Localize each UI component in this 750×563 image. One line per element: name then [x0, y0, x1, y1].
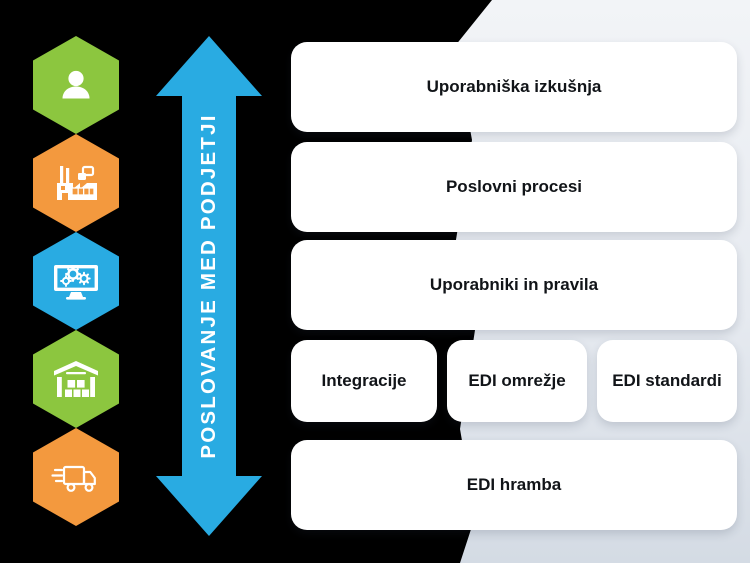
card-label: Uporabniška izkušnja	[417, 76, 612, 98]
card-label: EDI standardi	[602, 370, 732, 392]
card-label: Integracije	[311, 370, 416, 392]
card-uporabniki-in-pravila[interactable]: Uporabniki in pravila	[291, 240, 737, 330]
layer-row-integrations: Integracije EDI omrežje EDI standardi	[291, 340, 737, 422]
card-integracije[interactable]: Integracije	[291, 340, 437, 422]
diagram-canvas: POSLOVANJE MED PODJETJI Uporabniška izku…	[0, 0, 750, 563]
hexagon-icon-user[interactable]	[33, 36, 119, 134]
icon-column	[33, 36, 125, 536]
user-icon	[33, 36, 119, 134]
hexagon-icon-warehouse[interactable]	[33, 330, 119, 428]
card-edi-standardi[interactable]: EDI standardi	[597, 340, 737, 422]
hexagon-icon-truck[interactable]	[33, 428, 119, 526]
arrow-label: POSLOVANJE MED PODJETJI	[150, 36, 268, 536]
hexagon-icon-factory[interactable]	[33, 134, 119, 232]
business-flow-arrow: POSLOVANJE MED PODJETJI	[150, 36, 268, 536]
card-edi-hramba[interactable]: EDI hramba	[291, 440, 737, 530]
card-label: EDI omrežje	[458, 370, 575, 392]
delivery-truck-icon	[33, 428, 119, 526]
card-label: Uporabniki in pravila	[420, 274, 608, 296]
card-uporabniska-izkusnja[interactable]: Uporabniška izkušnja	[291, 42, 737, 132]
layer-stack: Uporabniška izkušnja Poslovni procesi Up…	[291, 0, 741, 563]
card-label: EDI hramba	[457, 474, 571, 496]
hexagon-icon-system[interactable]	[33, 232, 119, 330]
card-label: Poslovni procesi	[436, 176, 592, 198]
factory-icon	[33, 134, 119, 232]
warehouse-icon	[33, 330, 119, 428]
card-poslovni-procesi[interactable]: Poslovni procesi	[291, 142, 737, 232]
monitor-gears-icon	[33, 232, 119, 330]
card-edi-omrezje[interactable]: EDI omrežje	[447, 340, 587, 422]
